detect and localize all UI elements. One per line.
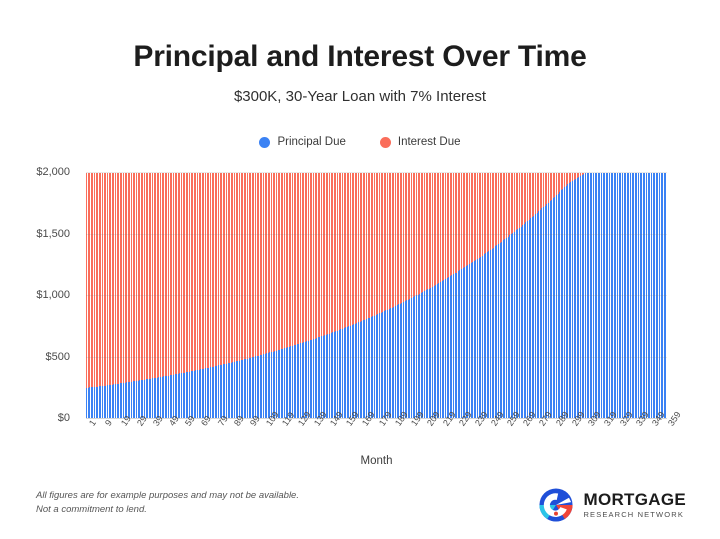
bar-segment-principal — [532, 217, 533, 418]
bar-segment-principal — [113, 384, 114, 418]
bar-segment-interest — [92, 173, 93, 388]
bar-segment-interest — [89, 173, 90, 388]
bar-segment-principal — [625, 173, 626, 419]
bar-segment-principal — [646, 173, 647, 419]
bar-segment-interest — [488, 173, 489, 252]
bar-segment-interest — [569, 173, 570, 183]
bar-segment-principal — [224, 364, 225, 418]
bar-segment-interest — [131, 173, 132, 382]
bar-segment-interest — [258, 173, 259, 356]
bar-segment-principal — [434, 286, 435, 418]
bar-segment-principal — [379, 313, 380, 418]
bar-segment-principal — [403, 302, 404, 418]
bar-segment-principal — [150, 379, 151, 418]
bar-segment-interest — [300, 173, 301, 344]
bar-segment-principal — [186, 372, 187, 418]
bar-segment-principal — [525, 222, 526, 418]
brand-logo: MORTGAGE RESEARCH NETWORK — [538, 487, 686, 523]
bar-segment-principal — [471, 263, 472, 418]
bar-segment-interest — [409, 173, 410, 299]
bar-segment-interest — [266, 173, 267, 354]
bar-segment-interest — [342, 173, 343, 329]
bar-segment-interest — [517, 173, 518, 230]
bar-segment-principal — [538, 211, 539, 418]
bar-segment-principal — [475, 260, 476, 418]
bar-segment-principal — [641, 173, 642, 419]
bar-segment-principal — [583, 174, 584, 418]
bar-segment-principal — [297, 344, 298, 418]
bar-segment-interest — [216, 173, 217, 366]
bar-segment-interest — [173, 173, 174, 375]
bar-segment-principal — [308, 341, 309, 418]
bar-segment-interest — [144, 173, 145, 380]
chart-title: Principal and Interest Over Time — [0, 40, 720, 74]
bar-segment-principal — [414, 296, 415, 418]
bar-segment-principal — [545, 206, 546, 418]
bar-segment-principal — [126, 382, 127, 418]
bar-segment-interest — [113, 173, 114, 385]
bar-segment-interest — [527, 173, 528, 222]
bar-segment-principal — [598, 173, 599, 419]
bar-segment-principal — [175, 374, 176, 418]
bar-segment-principal — [448, 277, 449, 418]
bar-segment-principal — [268, 353, 269, 418]
bar-segment-interest — [558, 173, 559, 194]
bar-segment-principal — [290, 346, 291, 418]
bar-segment-principal — [588, 173, 589, 419]
bar-segment-interest — [368, 173, 369, 319]
bar-segment-interest — [139, 173, 140, 381]
bar-segment-principal — [501, 242, 502, 418]
bar-segment-interest — [289, 173, 290, 347]
bar-segment-principal — [110, 385, 111, 418]
bar-segment-interest — [146, 173, 147, 380]
bar-segment-principal — [609, 173, 610, 419]
bar-segment-principal — [577, 178, 578, 418]
bar-segment-interest — [451, 173, 452, 276]
bar-segment-principal — [226, 364, 227, 418]
brand-wordmark: MORTGAGE RESEARCH NETWORK — [583, 491, 686, 519]
bar-segment-principal — [210, 367, 211, 418]
bar-segment-principal — [165, 376, 166, 418]
stacked-bars — [86, 172, 667, 418]
bar-segment-interest — [340, 173, 341, 330]
bar-segment-principal — [302, 343, 303, 418]
bar-segment-interest — [419, 173, 420, 294]
bar-segment-principal — [504, 239, 505, 418]
x-axis-title: Month — [86, 455, 667, 467]
bar-segment-interest — [416, 173, 417, 296]
bar-segment-principal — [157, 378, 158, 418]
bar-segment-interest — [149, 173, 150, 379]
bar-segment-principal — [553, 198, 554, 418]
bar-segment-interest — [401, 173, 402, 303]
bar-segment-interest — [86, 173, 87, 388]
bar-segment-principal — [546, 204, 547, 418]
bar-segment-interest — [210, 173, 211, 368]
bar-segment-principal — [595, 173, 596, 419]
bar-segment-interest — [360, 173, 361, 322]
bar-segment-principal — [612, 173, 613, 419]
bar-segment-interest — [337, 173, 338, 331]
bar-segment-interest — [213, 173, 214, 367]
bar-segment-principal — [541, 208, 542, 418]
bar-segment-principal — [506, 238, 507, 418]
bar-segment-principal — [558, 194, 559, 418]
bar-segment-principal — [548, 203, 549, 418]
bar-segment-principal — [496, 245, 497, 418]
bar-segment-interest — [120, 173, 121, 384]
bar-segment-interest — [175, 173, 176, 375]
bar-segment-interest — [442, 173, 443, 282]
legend-label: Interest Due — [398, 136, 461, 148]
bar-segment-interest — [443, 173, 444, 281]
bar-segment-principal — [400, 304, 401, 418]
bar-segment-principal — [440, 282, 441, 418]
bar-segment-interest — [298, 173, 299, 344]
bar-segment-interest — [344, 173, 345, 329]
bar-segment-interest — [427, 173, 428, 290]
bar-segment-principal — [393, 307, 394, 418]
bar-segment-principal — [453, 274, 454, 418]
bar-segment-interest — [303, 173, 304, 343]
bar-segment-principal — [136, 381, 137, 418]
bar-segment-interest — [311, 173, 312, 340]
bar-segment-principal — [614, 173, 615, 419]
bar-segment-interest — [384, 173, 385, 312]
bar-segment-principal — [138, 381, 139, 418]
bar-segment-principal — [640, 173, 641, 419]
bar-segment-interest — [199, 173, 200, 370]
bar-segment-principal — [276, 351, 277, 418]
bar-segment-principal — [411, 298, 412, 418]
bar-segment-principal — [216, 366, 217, 418]
bar-segment-principal — [229, 363, 230, 418]
bar-segment-principal — [601, 173, 602, 419]
bar-segment-principal — [566, 186, 567, 418]
bar-segment-principal — [574, 180, 575, 418]
bar-segment-principal — [287, 347, 288, 418]
bar-segment-interest — [253, 173, 254, 357]
bar-segment-interest — [292, 173, 293, 346]
bar-segment-principal — [195, 370, 196, 418]
bar-segment-principal — [487, 252, 488, 418]
y-axis-tick-label: $0 — [58, 412, 70, 424]
bar-segment-principal — [575, 179, 576, 418]
bar-segment-principal — [284, 348, 285, 418]
bar-segment-interest — [424, 173, 425, 292]
bar-segment-principal — [624, 173, 625, 419]
bar-segment-principal — [591, 173, 592, 419]
bar-segment-interest — [100, 173, 101, 387]
bar-segment-principal — [638, 173, 639, 419]
bar-segment-interest — [178, 173, 179, 374]
bar-segment-interest — [134, 173, 135, 382]
bar-segment-principal — [273, 352, 274, 418]
bar-segment-interest — [269, 173, 270, 353]
bar-segment-interest — [318, 173, 319, 338]
bar-segment-principal — [500, 243, 501, 418]
bar-segment-principal — [512, 233, 513, 418]
bar-segment-principal — [261, 355, 262, 418]
bar-segment-principal — [279, 350, 280, 418]
bar-segment-interest — [554, 173, 555, 197]
bar-segment-interest — [335, 173, 336, 332]
legend-item[interactable]: Principal Due — [259, 136, 345, 148]
bar-segment-interest — [430, 173, 431, 288]
bar-segment-principal — [384, 311, 385, 418]
bar-segment-principal — [345, 327, 346, 418]
bar-segment-interest — [242, 173, 243, 360]
bar-segment-interest — [326, 173, 327, 335]
bar-segment-interest — [550, 173, 551, 202]
bar-segment-interest — [437, 173, 438, 285]
bar-segment-interest — [403, 173, 404, 303]
bar-segment-principal — [323, 336, 324, 418]
bar-segment-interest — [379, 173, 380, 314]
bar-segment-interest — [397, 173, 398, 306]
bar-segment-principal — [530, 218, 531, 418]
bar-segment-principal — [561, 190, 562, 418]
bar-segment-principal — [228, 363, 229, 418]
bar-segment-interest — [274, 173, 275, 352]
bar-segment-interest — [574, 173, 575, 180]
bar-segment-principal — [94, 387, 95, 418]
bar-segment-interest — [313, 173, 314, 340]
bar-segment-interest — [263, 173, 264, 355]
bar-segment-principal — [554, 197, 555, 418]
bar-segment-interest — [414, 173, 415, 297]
bar-segment-interest — [374, 173, 375, 316]
bar-segment-principal — [352, 325, 353, 418]
bar-segment-interest — [519, 173, 520, 228]
bar-segment-principal — [129, 382, 130, 418]
bar-segment-interest — [372, 173, 373, 317]
bar-segment-principal — [96, 387, 97, 418]
bar-segment-interest — [129, 173, 130, 382]
bar-segment-interest — [136, 173, 137, 381]
bar-segment-principal — [125, 383, 126, 418]
bar-segment-interest — [192, 173, 193, 371]
bar-segment-interest — [369, 173, 370, 318]
bar-segment-principal — [490, 250, 491, 418]
bar-segment-interest — [321, 173, 322, 337]
bar-segment-interest — [482, 173, 483, 256]
bar-segment-principal — [578, 177, 579, 418]
disclaimer-note: All figures are for example purposes and… — [36, 489, 416, 517]
bar-segment-interest — [121, 173, 122, 384]
bar-segment-interest — [543, 173, 544, 207]
bar-segment-interest — [455, 173, 456, 274]
bar-segment-interest — [385, 173, 386, 311]
bar-segment-principal — [266, 353, 267, 418]
bar-segment-principal — [329, 334, 330, 418]
bar-segment-principal — [619, 173, 620, 419]
bar-segment-principal — [144, 380, 145, 418]
bar-segment-interest — [223, 173, 224, 365]
bar-segment-principal — [397, 305, 398, 418]
bar-segment-interest — [516, 173, 517, 231]
bar-segment-principal — [485, 253, 486, 418]
bar-segment-principal — [131, 382, 132, 418]
bar-segment-interest — [447, 173, 448, 279]
bar-segment-principal — [104, 386, 105, 418]
bar-segment-interest — [220, 173, 221, 366]
bar-segment-principal — [604, 173, 605, 419]
bar-segment-principal — [382, 312, 383, 418]
bar-segment-principal — [241, 360, 242, 418]
bar-segment-interest — [160, 173, 161, 377]
bar-segment-principal — [567, 184, 568, 418]
bar-segment-interest — [464, 173, 465, 268]
bar-segment-interest — [105, 173, 106, 386]
bar-segment-interest — [398, 173, 399, 305]
bar-segment-principal — [232, 362, 233, 418]
bar-segment-principal — [88, 388, 89, 418]
bar-segment-principal — [356, 323, 357, 418]
bar-segment-principal — [456, 273, 457, 419]
bar-segment-interest — [532, 173, 533, 217]
bar-segment-principal — [429, 289, 430, 419]
bar-segment-principal — [361, 321, 362, 418]
bar-segment-principal — [636, 173, 637, 419]
bar-segment-interest — [392, 173, 393, 308]
bar-segment-principal — [220, 365, 221, 418]
bar-segment-principal — [615, 173, 616, 419]
bar-segment-interest — [562, 173, 563, 189]
bar-segment-interest — [118, 173, 119, 384]
bar-segment-interest — [561, 173, 562, 191]
bar-segment-interest — [366, 173, 367, 319]
bar-segment-interest — [261, 173, 262, 355]
bar-segment-principal — [120, 383, 121, 418]
bar-segment-principal — [477, 259, 478, 418]
bar-segment-principal — [109, 385, 110, 418]
bar-segment-interest — [115, 173, 116, 385]
bar-segment-principal — [118, 384, 119, 418]
bar-segment-interest — [521, 173, 522, 227]
bar-segment-interest — [530, 173, 531, 219]
bar-segment-interest — [295, 173, 296, 345]
bar-segment-interest — [471, 173, 472, 264]
bar-segment-principal — [537, 213, 538, 418]
bar-segment-interest — [191, 173, 192, 372]
bar-segment-interest — [212, 173, 213, 367]
bar-segment-principal — [260, 355, 261, 418]
bar-segment-interest — [501, 173, 502, 242]
bar-segment-principal — [258, 356, 259, 418]
bar-segment-interest — [179, 173, 180, 374]
bar-segment-principal — [377, 314, 378, 418]
bar-segment-principal — [408, 300, 409, 418]
bar-segment-principal — [105, 386, 106, 418]
brand-tagline: RESEARCH NETWORK — [583, 511, 686, 519]
bar-segment-principal — [242, 360, 243, 418]
bar-segment-interest — [512, 173, 513, 233]
legend-item[interactable]: Interest Due — [380, 136, 461, 148]
bar-segment-principal — [294, 345, 295, 418]
bar-segment-principal — [511, 234, 512, 418]
bar-segment-principal — [355, 324, 356, 418]
bar-segment-principal — [543, 207, 544, 418]
bar-column[interactable] — [665, 172, 667, 418]
bar-segment-principal — [467, 265, 468, 418]
bar-segment-interest — [553, 173, 554, 199]
bar-segment-principal — [337, 331, 338, 419]
bar-segment-principal — [173, 375, 174, 418]
bar-segment-principal — [413, 297, 414, 418]
bar-segment-principal — [133, 381, 134, 418]
chart-card: Principal and Interest Over Time $300K, … — [0, 0, 720, 539]
bar-segment-interest — [559, 173, 560, 192]
bar-segment-interest — [247, 173, 248, 359]
bar-segment-principal — [458, 271, 459, 418]
bar-segment-principal — [480, 257, 481, 418]
bar-segment-principal — [607, 173, 608, 419]
bar-segment-interest — [371, 173, 372, 317]
bar-segment-interest — [541, 173, 542, 209]
bar-segment-principal — [300, 343, 301, 418]
bar-segment-interest — [487, 173, 488, 253]
bar-segment-interest — [194, 173, 195, 371]
bar-segment-principal — [271, 352, 272, 418]
bar-segment-interest — [509, 173, 510, 236]
bar-segment-interest — [422, 173, 423, 293]
bar-segment-principal — [469, 264, 470, 418]
bar-segment-principal — [176, 374, 177, 418]
bar-segment-principal — [263, 354, 264, 418]
bar-segment-principal — [661, 173, 662, 419]
bar-segment-principal — [347, 327, 348, 418]
bar-segment-principal — [450, 276, 451, 418]
bar-segment-interest — [112, 173, 113, 385]
bar-segment-interest — [147, 173, 148, 380]
bar-segment-interest — [467, 173, 468, 266]
bar-segment-principal — [298, 344, 299, 418]
bar-segment-principal — [463, 268, 464, 418]
bar-segment-principal — [653, 173, 654, 419]
disclaimer-line-1: All figures are for example purposes and… — [36, 489, 416, 503]
bar-segment-interest — [305, 173, 306, 342]
bar-segment-principal — [324, 335, 325, 418]
bar-segment-interest — [459, 173, 460, 271]
bar-segment-principal — [662, 173, 663, 419]
bar-segment-interest — [387, 173, 388, 310]
bar-segment-principal — [495, 246, 496, 418]
bar-segment-interest — [110, 173, 111, 385]
bar-segment-principal — [178, 374, 179, 418]
bar-segment-interest — [128, 173, 129, 383]
bar-segment-interest — [406, 173, 407, 301]
bar-segment-principal — [509, 235, 510, 418]
bar-segment-interest — [508, 173, 509, 237]
bar-segment-principal — [529, 220, 530, 418]
bar-segment-interest — [411, 173, 412, 298]
bar-segment-principal — [587, 173, 588, 419]
bar-segment-interest — [421, 173, 422, 293]
bar-segment-interest — [102, 173, 103, 387]
bar-segment-principal — [517, 229, 518, 418]
bar-segment-principal — [372, 316, 373, 418]
bar-segment-principal — [654, 173, 655, 419]
bar-segment-interest — [525, 173, 526, 223]
bar-segment-interest — [332, 173, 333, 333]
bar-segment-principal — [401, 303, 402, 418]
bar-segment-interest — [229, 173, 230, 363]
bar-segment-interest — [215, 173, 216, 367]
bar-segment-interest — [348, 173, 349, 327]
bar-segment-interest — [405, 173, 406, 302]
